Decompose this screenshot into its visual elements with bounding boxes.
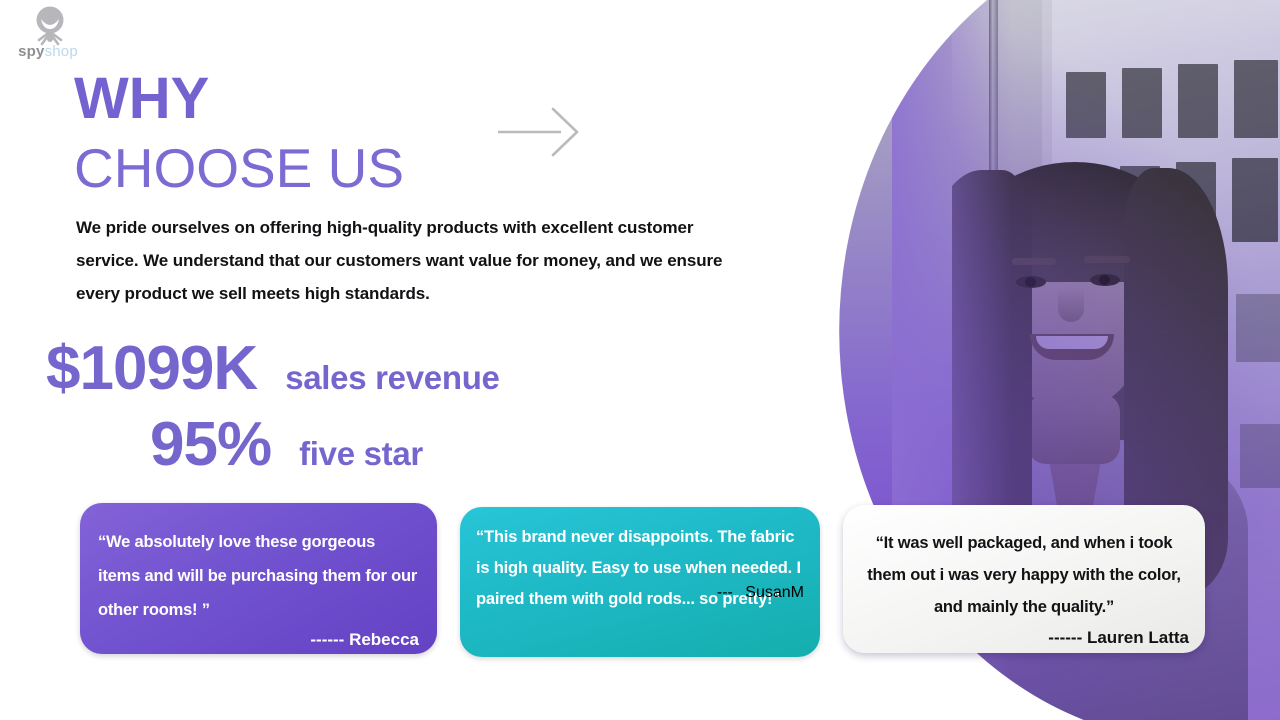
testimonial-author: ------ Lauren Latta xyxy=(859,623,1189,653)
brand-name-shop: shop xyxy=(45,43,78,60)
spyshop-mascot-icon xyxy=(28,4,72,48)
brand-logo[interactable]: spyshop xyxy=(8,4,88,66)
brand-name: spyshop xyxy=(8,44,88,59)
testimonial-author-name: SusanM xyxy=(745,584,804,601)
testimonial-card-susanm[interactable]: “This brand never disappoints. The fabri… xyxy=(460,507,820,657)
intro-paragraph: We pride ourselves on offering high-qual… xyxy=(76,211,752,310)
testimonial-quote: “We absolutely love these gorgeous items… xyxy=(98,525,419,627)
stat-value-revenue: $1099K xyxy=(46,333,257,405)
stat-value-fivestar: 95% xyxy=(150,409,271,481)
testimonial-card-rebecca[interactable]: “We absolutely love these gorgeous items… xyxy=(80,503,437,654)
testimonial-author-dashes: --- xyxy=(717,584,733,601)
page-title-line1: WHY xyxy=(74,68,209,130)
arrow-right-icon xyxy=(495,105,585,159)
stat-label-revenue: sales revenue xyxy=(285,358,499,398)
testimonial-card-lauren[interactable]: “It was well packaged, and when i took t… xyxy=(843,505,1205,653)
stat-item-revenue: $1099K sales revenue xyxy=(46,333,666,405)
brand-name-spy: spy xyxy=(18,43,44,60)
testimonial-author: ------ Rebecca xyxy=(98,625,419,655)
stat-item-fivestar: 95% five star xyxy=(46,409,666,481)
testimonial-quote: “It was well packaged, and when i took t… xyxy=(859,527,1189,623)
stat-label-fivestar: five star xyxy=(299,434,423,474)
slide-why-choose-us: spyshop WHY CHOOSE US We pride ourselves… xyxy=(0,0,1280,720)
stats-group: $1099K sales revenue 95% five star xyxy=(46,333,666,481)
page-title-line2: CHOOSE US xyxy=(74,138,404,198)
